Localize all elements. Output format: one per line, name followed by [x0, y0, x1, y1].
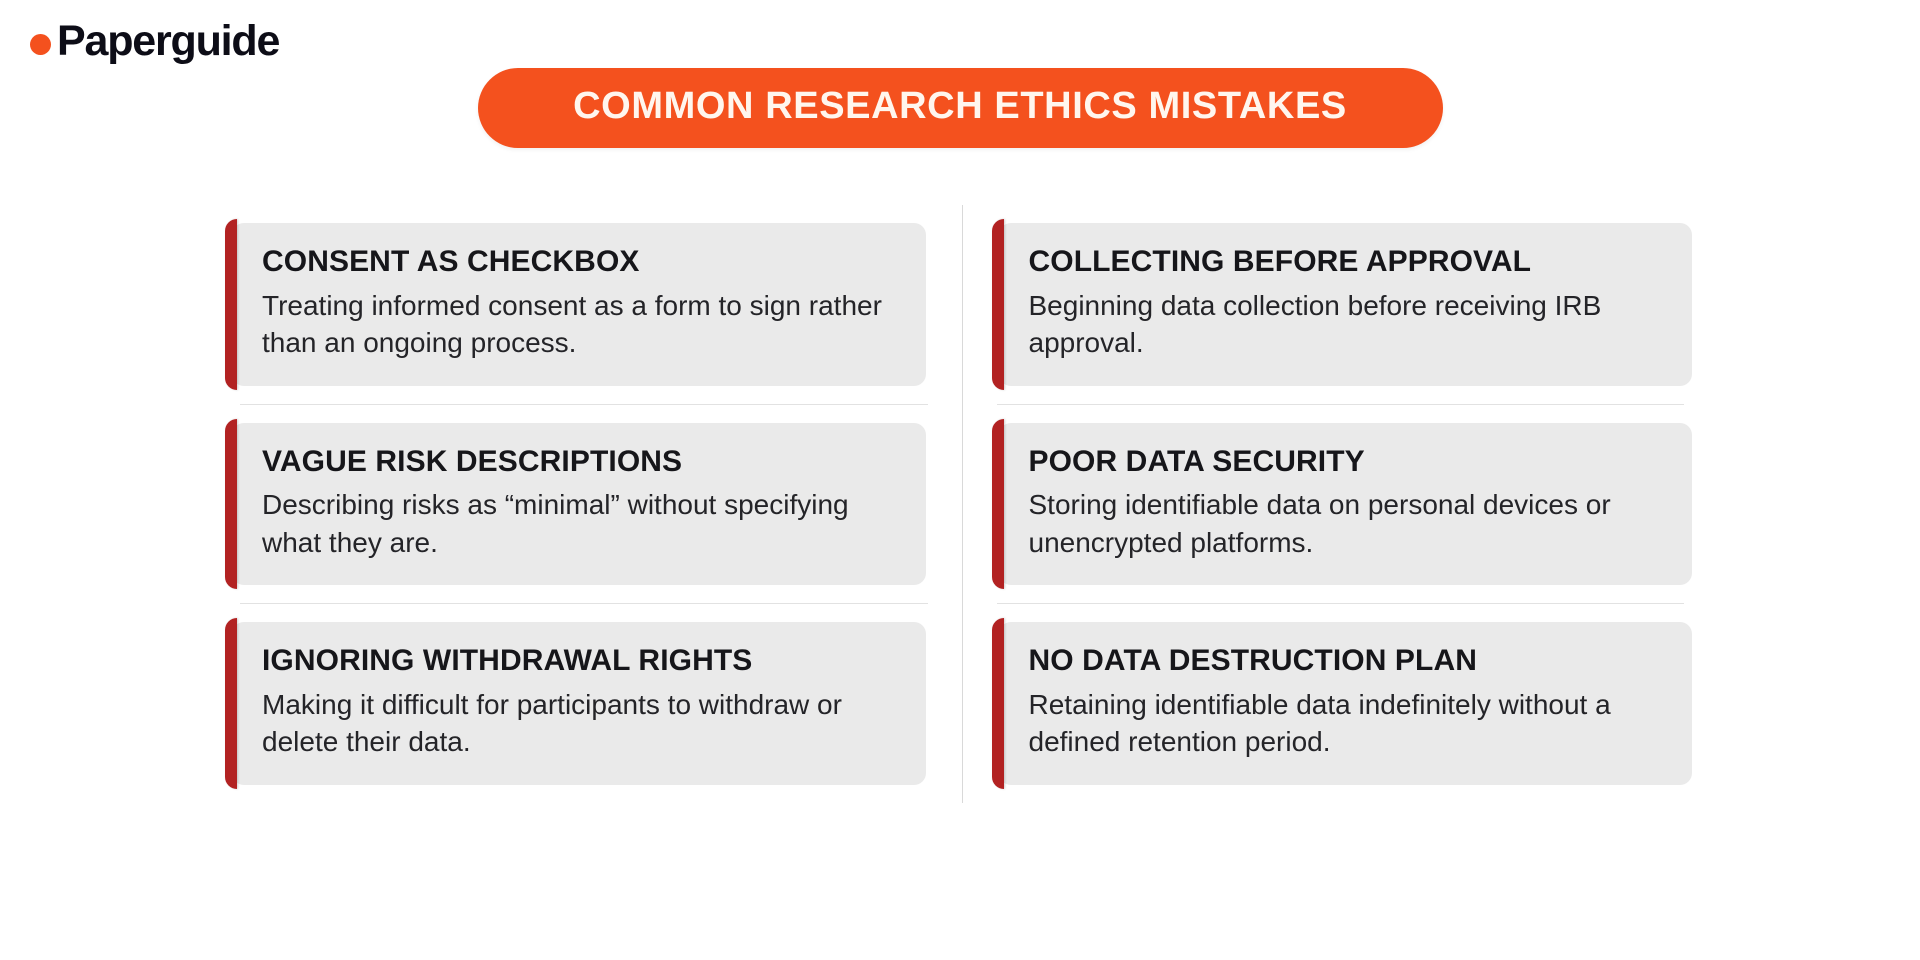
- card-accent-bar: [992, 618, 1004, 789]
- brand-name: Paperguide: [57, 20, 279, 63]
- card-heading: COLLECTING BEFORE APPROVAL: [1029, 245, 1667, 280]
- card-heading: NO DATA DESTRUCTION PLAN: [1029, 644, 1667, 679]
- card-accent-bar: [225, 419, 237, 590]
- card-accent-bar: [225, 219, 237, 390]
- card-body: Beginning data collection before receivi…: [1029, 287, 1667, 362]
- title-banner-container: COMMON RESEARCH ETHICS MISTAKES: [0, 68, 1920, 148]
- card-body: Treating informed consent as a form to s…: [262, 287, 900, 362]
- brand-logo: Paperguide: [30, 20, 279, 63]
- card-heading: CONSENT AS CHECKBOX: [262, 245, 900, 280]
- grid-cell: IGNORING WITHDRAWAL RIGHTS Making it dif…: [232, 604, 962, 803]
- grid-cell: VAGUE RISK DESCRIPTIONS Describing risks…: [232, 405, 962, 604]
- title-banner: COMMON RESEARCH ETHICS MISTAKES: [478, 68, 1443, 148]
- mistake-card-ignoring-withdrawal-rights: IGNORING WITHDRAWAL RIGHTS Making it dif…: [232, 622, 926, 785]
- card-body: Describing risks as “minimal” without sp…: [262, 486, 900, 561]
- mistake-card-poor-data-security: POOR DATA SECURITY Storing identifiable …: [999, 423, 1693, 586]
- mistake-card-consent-as-checkbox: CONSENT AS CHECKBOX Treating informed co…: [232, 223, 926, 386]
- grid-cell: COLLECTING BEFORE APPROVAL Beginning dat…: [963, 205, 1693, 404]
- brand-dot-icon: [30, 34, 51, 55]
- card-body: Storing identifiable data on personal de…: [1029, 486, 1667, 561]
- card-accent-bar: [225, 618, 237, 789]
- mistake-card-no-data-destruction-plan: NO DATA DESTRUCTION PLAN Retaining ident…: [999, 622, 1693, 785]
- card-body: Making it difficult for participants to …: [262, 686, 900, 761]
- card-heading: POOR DATA SECURITY: [1029, 445, 1667, 480]
- card-accent-bar: [992, 219, 1004, 390]
- mistake-card-collecting-before-approval: COLLECTING BEFORE APPROVAL Beginning dat…: [999, 223, 1693, 386]
- grid-cell: CONSENT AS CHECKBOX Treating informed co…: [232, 205, 962, 404]
- page-title: COMMON RESEARCH ETHICS MISTAKES: [530, 86, 1391, 128]
- card-body: Retaining identifiable data indefinitely…: [1029, 686, 1667, 761]
- card-accent-bar: [992, 419, 1004, 590]
- card-heading: IGNORING WITHDRAWAL RIGHTS: [262, 644, 900, 679]
- card-heading: VAGUE RISK DESCRIPTIONS: [262, 445, 900, 480]
- mistake-card-vague-risk-descriptions: VAGUE RISK DESCRIPTIONS Describing risks…: [232, 423, 926, 586]
- grid-cell: NO DATA DESTRUCTION PLAN Retaining ident…: [963, 604, 1693, 803]
- grid-cell: POOR DATA SECURITY Storing identifiable …: [963, 405, 1693, 604]
- mistakes-grid: CONSENT AS CHECKBOX Treating informed co…: [232, 205, 1692, 803]
